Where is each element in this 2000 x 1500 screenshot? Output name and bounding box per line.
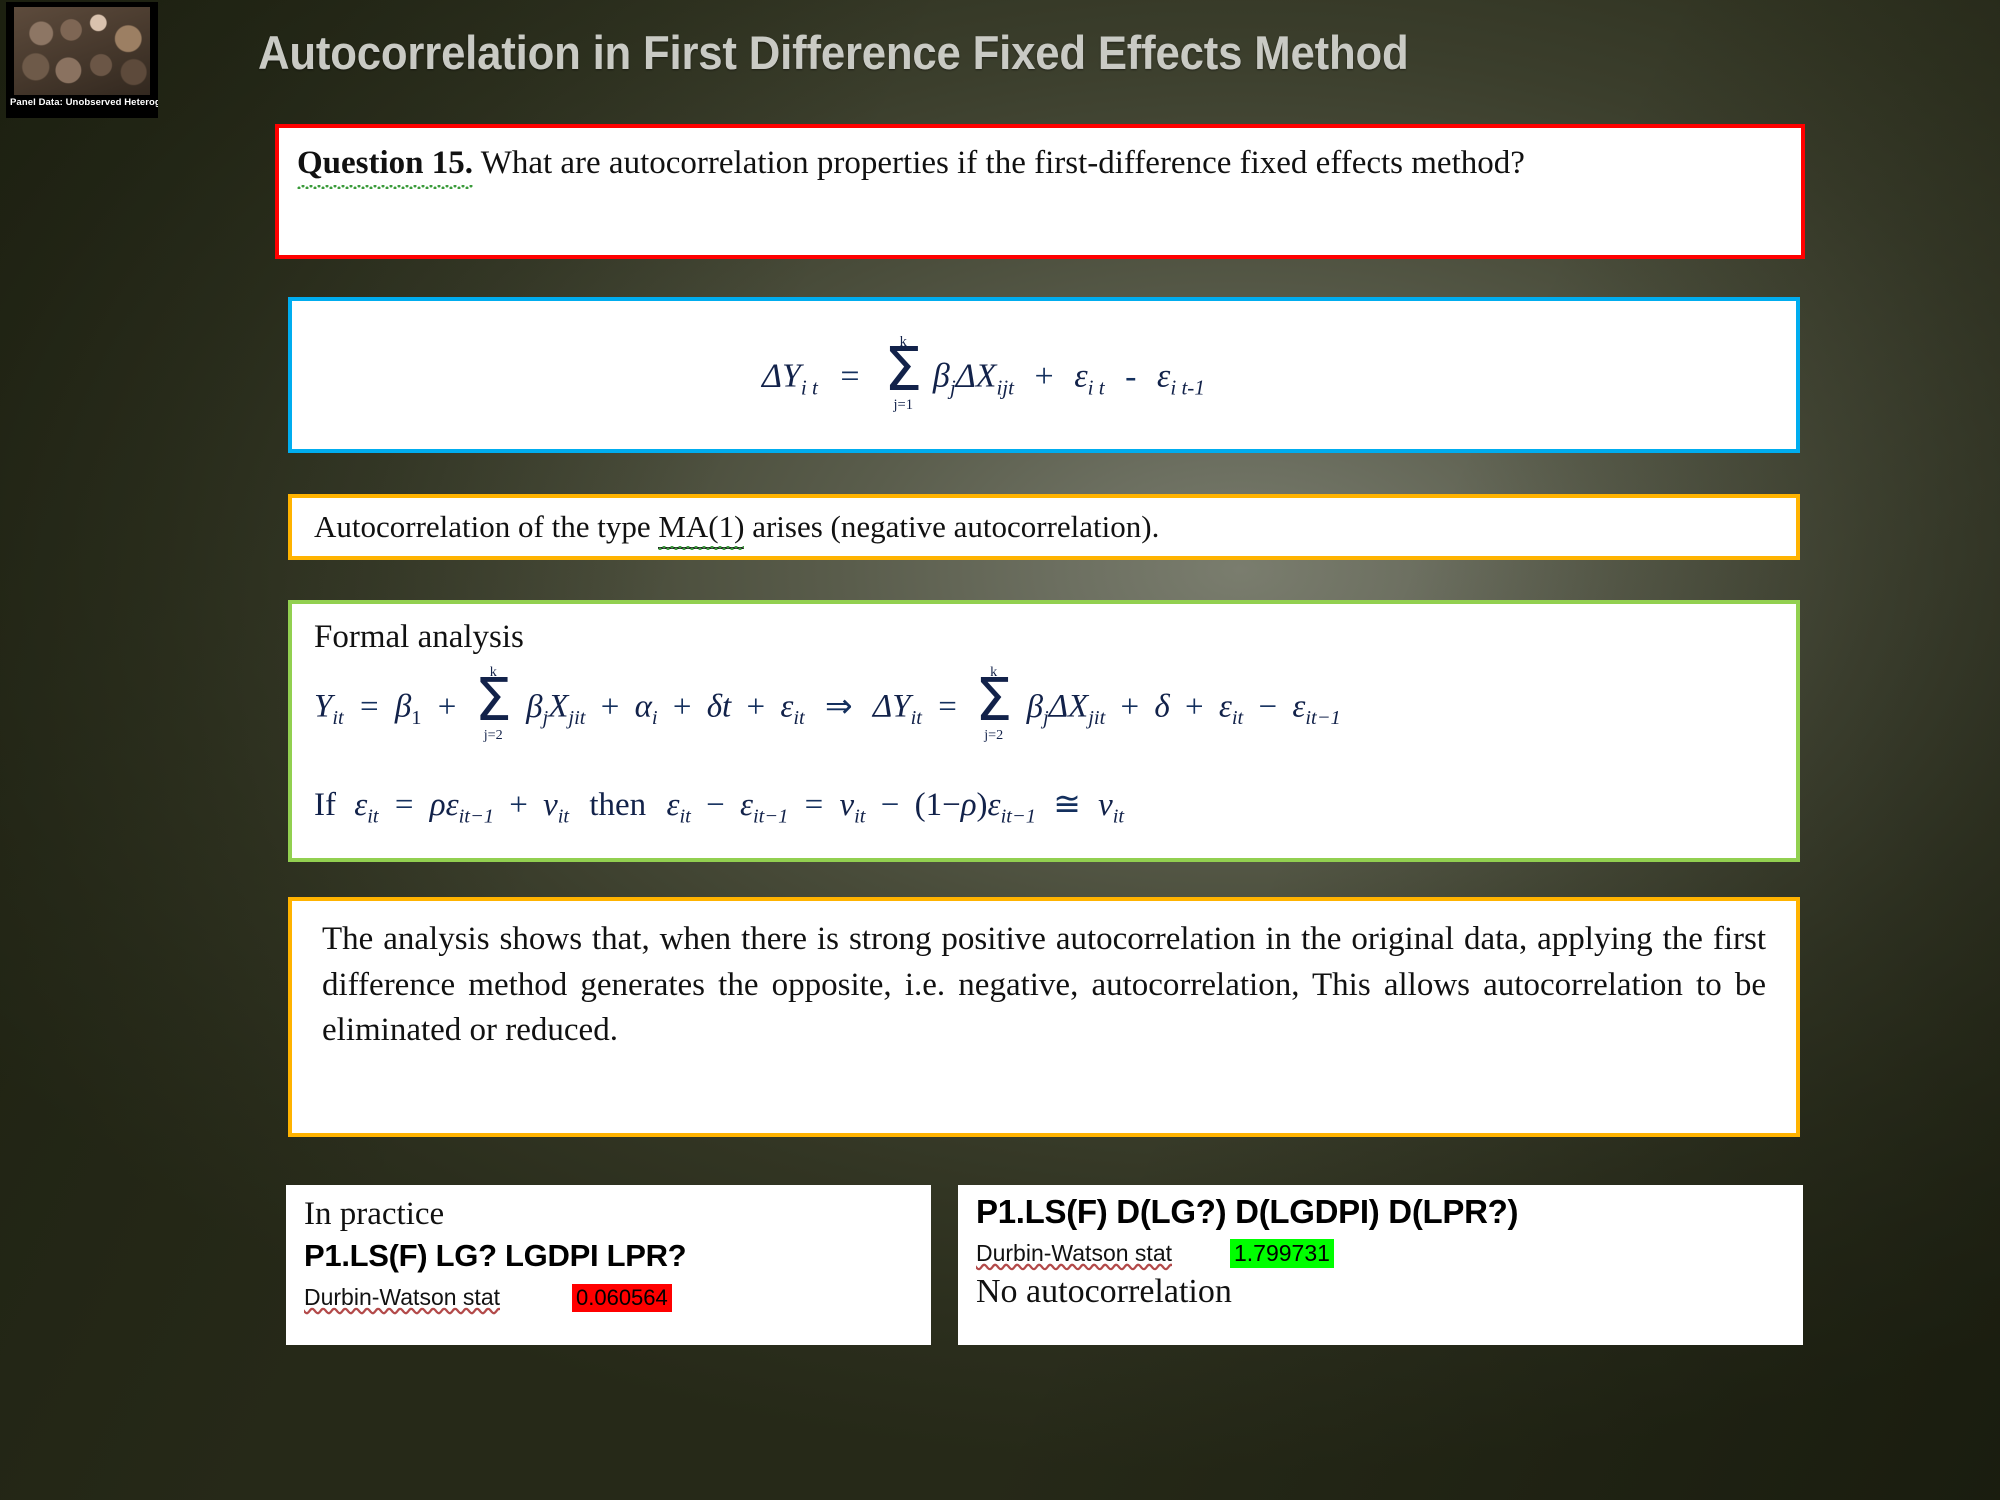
eq-deltax: ΔX xyxy=(956,358,997,395)
f1-sum2-upper: k xyxy=(990,664,997,681)
f1-sum2-lower: j=2 xyxy=(984,727,1003,744)
f1-eq2: = xyxy=(938,689,957,725)
f1-implies: ⇒ xyxy=(825,689,853,725)
eq-eps1-sub: i t xyxy=(1088,375,1105,399)
f2-eps-c: ε xyxy=(988,787,1001,823)
equation-box: ΔYi t = k Σ j=1 βjΔXijt + εi t - εi t-1 xyxy=(288,297,1800,453)
f1-dx-sub: jit xyxy=(1088,707,1105,729)
f2-eps-sub: it xyxy=(367,806,378,828)
f2-v3: v xyxy=(1098,787,1113,823)
f1-summation: k Σ j=2 xyxy=(475,679,512,729)
f1-eps: ε xyxy=(780,689,793,725)
f2-eps-a-sub: it xyxy=(679,806,690,828)
practice-left-command: P1.LS(F) LG? LGDPI LPR? xyxy=(286,1236,931,1274)
question-box: Question 15. What are autocorrelation pr… xyxy=(275,124,1805,259)
f2-v-sub: it xyxy=(558,806,569,828)
f2-eq: = xyxy=(395,787,414,823)
f1-plus5: + xyxy=(1121,689,1140,725)
formal-equation-1: Yit = β1 + k Σ j=2 βjXjit + αi + δt + εi… xyxy=(314,679,1341,730)
f1-plus4: + xyxy=(746,689,765,725)
formal-analysis-box: Formal analysis Yit = β1 + k Σ j=2 βjXji… xyxy=(288,600,1800,862)
f1-eps3: ε xyxy=(1292,689,1305,725)
f1-dx: ΔX xyxy=(1049,689,1089,725)
f2-rho2: ρ xyxy=(961,787,977,823)
eq-lhs-sub: i t xyxy=(801,375,818,399)
eq-summation: k Σ j=1 xyxy=(884,349,922,399)
f1-deltat: δt xyxy=(707,689,732,725)
f1-plus1: + xyxy=(438,689,457,725)
practice-right-conclusion: No autocorrelation xyxy=(958,1268,1803,1314)
practice-right-stat-value: 1.799731 xyxy=(1230,1239,1334,1268)
f1-y-sub: it xyxy=(332,707,343,729)
eq-sum-upper: k xyxy=(900,334,907,351)
f2-v2: v xyxy=(839,787,854,823)
eq-eps2: ε xyxy=(1157,358,1170,395)
f1-minus: − xyxy=(1258,689,1277,725)
eq-eps1: ε xyxy=(1074,358,1087,395)
f1-plus2: + xyxy=(601,689,620,725)
panel-data-logo: Panel Data: Unobserved Heterogeneity xyxy=(6,2,158,118)
f1-alpha: α xyxy=(635,689,652,725)
f1-eps2: ε xyxy=(1219,689,1232,725)
f2-eps-b: ε xyxy=(740,787,753,823)
f1-beta1: β xyxy=(395,689,411,725)
f2-if: If xyxy=(314,787,336,823)
main-equation: ΔYi t = k Σ j=1 βjΔXijt + εi t - εi t-1 xyxy=(762,349,1205,400)
f1-beta2: β xyxy=(1027,689,1043,725)
f2-eq2: = xyxy=(805,787,824,823)
f1-plus6: + xyxy=(1185,689,1204,725)
f1-eps2-sub: it xyxy=(1232,707,1243,729)
ma-text-before: Autocorrelation of the type xyxy=(314,509,658,544)
f2-eps-c-sub: it−1 xyxy=(1001,806,1036,828)
analysis-conclusion-box: The analysis shows that, when there is s… xyxy=(288,897,1800,1137)
f2-rho-eps: ε xyxy=(446,787,459,823)
practice-left-stat-label: Durbin-Watson stat xyxy=(304,1284,500,1311)
f1-eq: = xyxy=(360,689,379,725)
f1-beta1-sub: 1 xyxy=(411,707,421,729)
question-label: Question 15. xyxy=(297,142,473,186)
f2-v2-sub: it xyxy=(854,806,865,828)
f2-eps-a: ε xyxy=(666,787,679,823)
formal-equation-2: If εit = ρεit−1 + vit then εit − εit−1 =… xyxy=(314,784,1124,829)
f2-paren-open: (1− xyxy=(915,787,961,823)
f1-eps-sub: it xyxy=(793,707,804,729)
eq-sum-lower: j=1 xyxy=(893,397,913,414)
ma-term: MA(1) xyxy=(658,507,744,549)
eq-lhs: ΔY xyxy=(762,358,801,395)
f1-alpha-sub: i xyxy=(652,707,658,729)
eq-plus: + xyxy=(1035,358,1054,395)
practice-left-panel: In practice P1.LS(F) LG? LGDPI LPR? Durb… xyxy=(286,1185,931,1345)
f1-dy: ΔY xyxy=(873,689,911,725)
question-text: What are autocorrelation properties if t… xyxy=(481,145,1525,181)
f2-approx: ≅ xyxy=(1053,787,1081,823)
f1-x-sub: jit xyxy=(568,707,585,729)
practice-right-stat-label: Durbin-Watson stat xyxy=(976,1240,1172,1267)
f2-rho: ρ xyxy=(430,787,446,823)
practice-right-command: P1.LS(F) D(LG?) D(LGDPI) D(LPR?) xyxy=(958,1185,1803,1231)
f1-sum-lower: j=2 xyxy=(484,727,503,744)
eq-deltax-sub: ijt xyxy=(996,375,1014,399)
practice-right-panel: P1.LS(F) D(LG?) D(LGDPI) D(LPR?) Durbin-… xyxy=(958,1185,1803,1345)
f2-v3-sub: it xyxy=(1113,806,1124,828)
f2-minus: − xyxy=(706,787,725,823)
f1-y: Y xyxy=(314,689,332,725)
f1-beta: β xyxy=(526,689,542,725)
logo-photo xyxy=(14,7,150,95)
f1-sum-upper: k xyxy=(490,664,497,681)
f1-delta: δ xyxy=(1154,689,1169,725)
f1-x: X xyxy=(548,689,568,725)
f2-plus: + xyxy=(509,787,528,823)
eq-equals: = xyxy=(840,358,859,395)
f2-eps-b-sub: it−1 xyxy=(753,806,788,828)
eq-eps2-sub: i t-1 xyxy=(1170,375,1205,399)
formal-heading: Formal analysis xyxy=(292,604,1796,659)
practice-heading: In practice xyxy=(286,1185,931,1236)
f2-v: v xyxy=(543,787,558,823)
f2-then: then xyxy=(589,787,646,823)
f2-rho-eps-sub: it−1 xyxy=(459,806,494,828)
ma-box: Autocorrelation of the type MA(1) arises… xyxy=(288,494,1800,560)
f1-summation-2: k Σ j=2 xyxy=(975,679,1012,729)
page-title: Autocorrelation in First Difference Fixe… xyxy=(258,28,1709,79)
f1-eps3-sub: it−1 xyxy=(1305,707,1340,729)
analysis-text: The analysis shows that, when there is s… xyxy=(292,901,1796,1054)
f1-dy-sub: it xyxy=(911,707,922,729)
logo-caption: Panel Data: Unobserved Heterogeneity xyxy=(10,97,156,108)
practice-left-stat-value: 0.060564 xyxy=(572,1284,672,1312)
eq-minus: - xyxy=(1125,358,1136,395)
f2-eps: ε xyxy=(354,787,367,823)
f2-paren-close: ) xyxy=(977,787,988,823)
ma-text-after: arises (negative autocorrelation). xyxy=(744,509,1159,544)
f2-minus2: − xyxy=(881,787,900,823)
eq-beta: β xyxy=(933,358,950,395)
f1-plus3: + xyxy=(673,689,692,725)
slide-canvas: Panel Data: Unobserved Heterogeneity Aut… xyxy=(0,0,2000,1500)
